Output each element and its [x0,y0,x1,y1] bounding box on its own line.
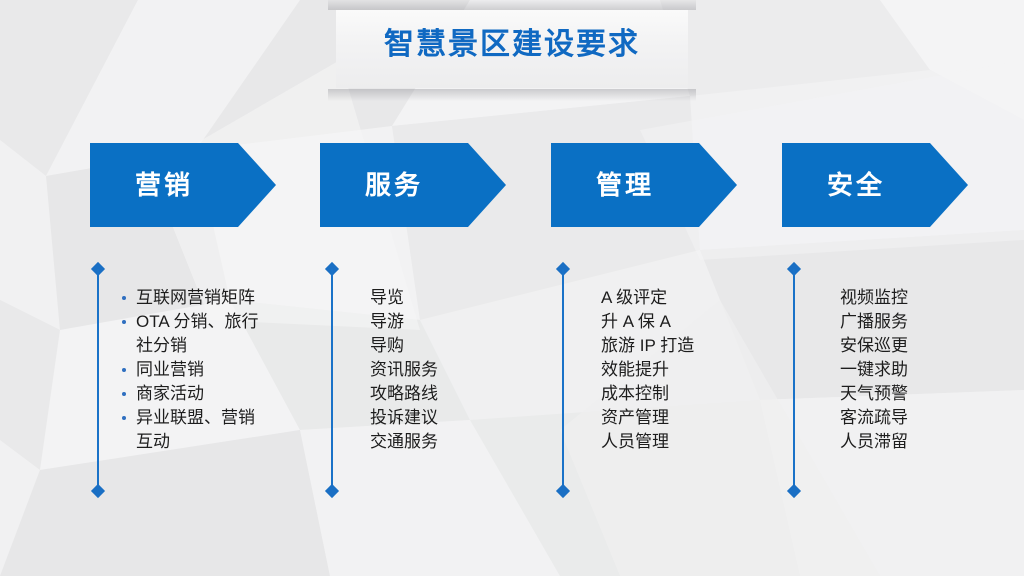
column-service: 导览导游导购资讯服务攻略路线投诉建议交通服务 [320,262,550,498]
connector-stem [97,269,99,491]
list-item: 安保巡更 [808,334,1018,358]
connector-node-bottom-icon [787,484,801,498]
item-list-safety: 视频监控广播服务安保巡更一键求助天气预警客流疏导人员滞留 [808,286,1018,454]
column-management: A 级评定升 A 保 A旅游 IP 打造效能提升成本控制资产管理人员管理 [551,262,781,498]
connector-node-bottom-icon [556,484,570,498]
slide-canvas: 智慧景区建设要求 营销 服务 管理 安全 互联网营销矩阵OTA 分销、旅行 社分… [0,0,1024,576]
arrow-banner-label: 服务 [320,170,506,200]
connector-node-bottom-icon [91,484,105,498]
content-columns: 互联网营销矩阵OTA 分销、旅行 社分销同业营销商家活动异业联盟、营销 互动 导… [0,0,1024,576]
arrow-banner-label: 营销 [90,170,276,200]
connector-node-bottom-icon [325,484,339,498]
arrow-banner-row: 营销 服务 管理 安全 [0,143,1024,227]
list-item: 广播服务 [808,310,1018,334]
list-item: 导览 [338,286,548,310]
connector-stem [793,269,795,491]
list-item: 一键求助 [808,358,1018,382]
connector-stem [331,269,333,491]
connector-line-service [325,262,339,498]
list-item: 升 A 保 A [569,310,779,334]
connector-line-marketing [91,262,105,498]
list-item: 视频监控 [808,286,1018,310]
connector-stem [562,269,564,491]
list-item: 天气预警 [808,382,1018,406]
list-item: 客流疏导 [808,406,1018,430]
list-item: 导游 [338,310,548,334]
list-item: 资产管理 [569,406,779,430]
item-list-marketing: 互联网营销矩阵OTA 分销、旅行 社分销同业营销商家活动异业联盟、营销 互动 [104,286,314,454]
list-item: 互联网营销矩阵 [104,286,314,310]
arrow-banner-label: 管理 [551,170,737,200]
item-list-service: 导览导游导购资讯服务攻略路线投诉建议交通服务 [338,286,548,454]
list-item: 同业营销 [104,358,314,382]
list-item: 投诉建议 [338,406,548,430]
list-item: OTA 分销、旅行 社分销 [104,310,314,358]
list-item: 异业联盟、营销 互动 [104,406,314,454]
list-item: 资讯服务 [338,358,548,382]
arrow-banner-safety[interactable]: 安全 [782,143,968,227]
list-item: 旅游 IP 打造 [569,334,779,358]
list-item: 导购 [338,334,548,358]
arrow-banner-marketing[interactable]: 营销 [90,143,276,227]
list-item: 效能提升 [569,358,779,382]
arrow-banner-service[interactable]: 服务 [320,143,506,227]
list-item: A 级评定 [569,286,779,310]
arrow-banner-label: 安全 [782,170,968,200]
list-item: 商家活动 [104,382,314,406]
list-item: 人员滞留 [808,430,1018,454]
column-safety: 视频监控广播服务安保巡更一键求助天气预警客流疏导人员滞留 [782,262,1012,498]
list-item: 人员管理 [569,430,779,454]
item-list-management: A 级评定升 A 保 A旅游 IP 打造效能提升成本控制资产管理人员管理 [569,286,779,454]
connector-line-management [556,262,570,498]
arrow-banner-management[interactable]: 管理 [551,143,737,227]
list-item: 成本控制 [569,382,779,406]
list-item: 攻略路线 [338,382,548,406]
page-title: 智慧景区建设要求 [0,27,1024,63]
list-item: 交通服务 [338,430,548,454]
connector-line-safety [787,262,801,498]
column-marketing: 互联网营销矩阵OTA 分销、旅行 社分销同业营销商家活动异业联盟、营销 互动 [86,262,316,498]
